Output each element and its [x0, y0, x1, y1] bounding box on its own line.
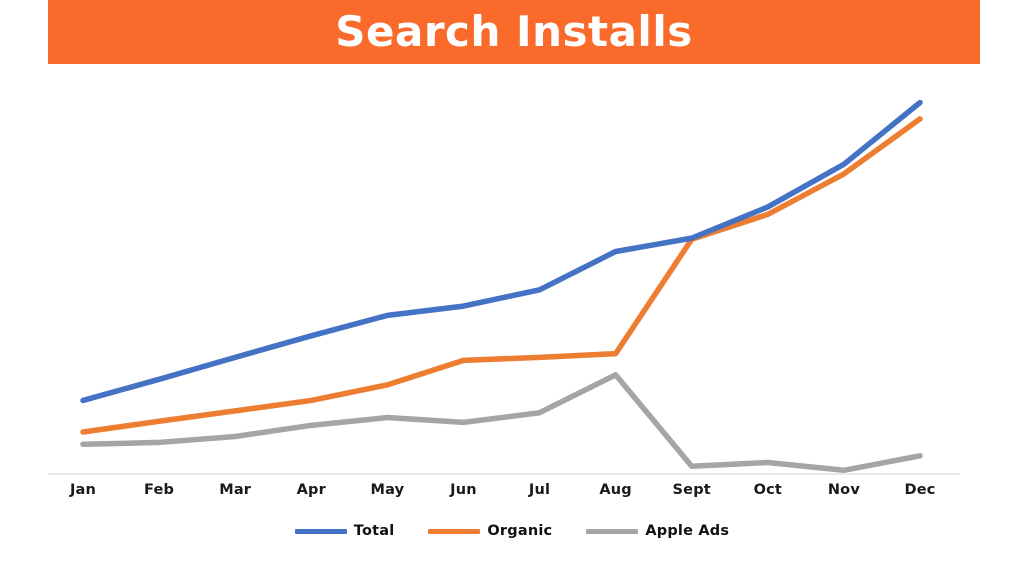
x-tick-label-sept: Sept: [673, 482, 711, 498]
x-tick-label-jan: Jan: [70, 482, 96, 498]
page-title: Search Installs: [335, 11, 692, 53]
legend-label-organic: Organic: [487, 523, 552, 539]
x-axis-tick-labels: JanFebMarAprMayJunJulAugSeptOctNovDec: [0, 482, 1024, 506]
x-tick-label-dec: Dec: [904, 482, 935, 498]
legend-item-organic[interactable]: Organic: [428, 523, 552, 539]
chart-page: Search Installs JanFebMarAprMayJunJulAug…: [0, 0, 1024, 576]
x-tick-label-oct: Oct: [754, 482, 782, 498]
x-tick-label-feb: Feb: [144, 482, 174, 498]
chart-legend: TotalOrganicApple Ads: [0, 518, 1024, 544]
x-tick-label-mar: Mar: [219, 482, 251, 498]
legend-swatch-apple-ads: [586, 529, 638, 534]
series-line-total: [83, 103, 920, 401]
chart-svg: [0, 64, 1024, 484]
x-tick-label-jun: Jun: [450, 482, 477, 498]
legend-swatch-total: [295, 529, 347, 534]
series-line-apple-ads: [83, 375, 920, 470]
x-tick-label-apr: Apr: [297, 482, 326, 498]
legend-label-apple-ads: Apple Ads: [645, 523, 729, 539]
legend-item-apple-ads[interactable]: Apple Ads: [586, 523, 729, 539]
x-tick-label-aug: Aug: [599, 482, 632, 498]
x-tick-label-jul: Jul: [529, 482, 550, 498]
legend-label-total: Total: [354, 523, 395, 539]
legend-item-total[interactable]: Total: [295, 523, 395, 539]
legend-swatch-organic: [428, 529, 480, 534]
x-tick-label-nov: Nov: [828, 482, 860, 498]
series-line-organic: [83, 119, 920, 432]
title-banner: Search Installs: [48, 0, 980, 64]
x-tick-label-may: May: [370, 482, 404, 498]
line-chart: [0, 64, 1024, 484]
